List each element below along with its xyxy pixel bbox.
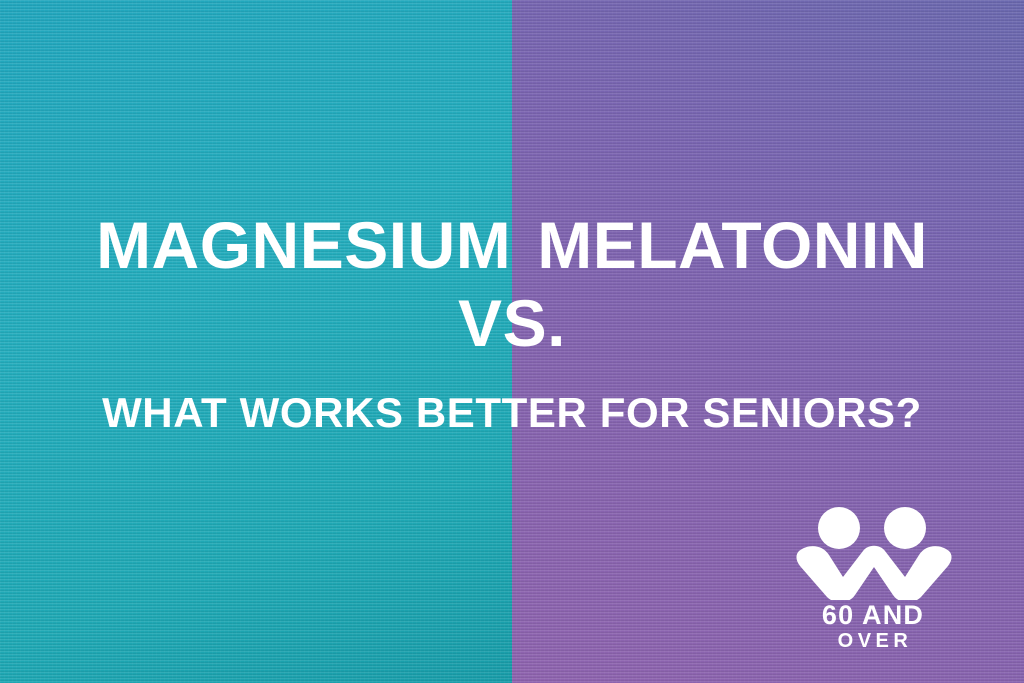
logo-line-2: OVER xyxy=(793,629,953,653)
headline-right-word: MELATONIN xyxy=(537,212,928,278)
versus-text: VS. xyxy=(0,290,1024,356)
poster-canvas: MAGNESIUMMELATONIN VS. WHAT WORKS BETTER… xyxy=(0,0,1024,683)
logo-wordmark: 60 AND OVER xyxy=(793,601,953,653)
headline-row: MAGNESIUMMELATONIN xyxy=(0,212,1024,278)
brand-logo: 60 AND OVER xyxy=(793,505,953,657)
subheadline-text: WHAT WORKS BETTER FOR SENIORS? xyxy=(0,392,1024,434)
headline-left-word: MAGNESIUM xyxy=(96,212,511,278)
logo-line-1: 60 AND xyxy=(793,601,953,629)
two-people-w-icon xyxy=(793,505,953,600)
